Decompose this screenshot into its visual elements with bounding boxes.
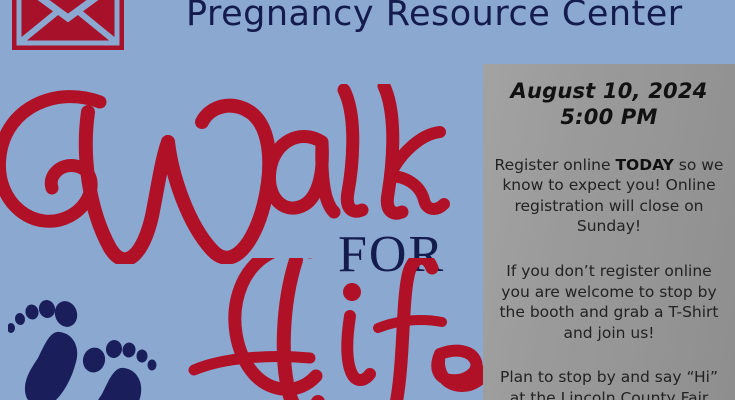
event-time: 5:00 PM xyxy=(492,104,726,130)
page-title: Pregnancy Resource Center xyxy=(186,0,683,34)
registration-paragraph: Register online TODAY so we know to expe… xyxy=(492,155,726,237)
baby-footprints-icon xyxy=(8,300,158,400)
fair-paragraph: Plan to stop by and say “Hi” at the Linc… xyxy=(492,367,726,400)
event-info-panel: August 10, 2024 5:00 PM Register online … xyxy=(483,64,735,400)
registration-emphasis: TODAY xyxy=(615,156,673,174)
life-wordmark xyxy=(150,258,490,400)
event-date: August 10, 2024 xyxy=(492,78,726,104)
prc-envelope-logo-icon xyxy=(12,0,124,50)
registration-text-before: Register online xyxy=(495,156,616,174)
walkup-paragraph: If you don’t register online you are wel… xyxy=(492,261,726,343)
walk-for-life-poster: Pregnancy Resource Center FOR xyxy=(0,0,735,400)
